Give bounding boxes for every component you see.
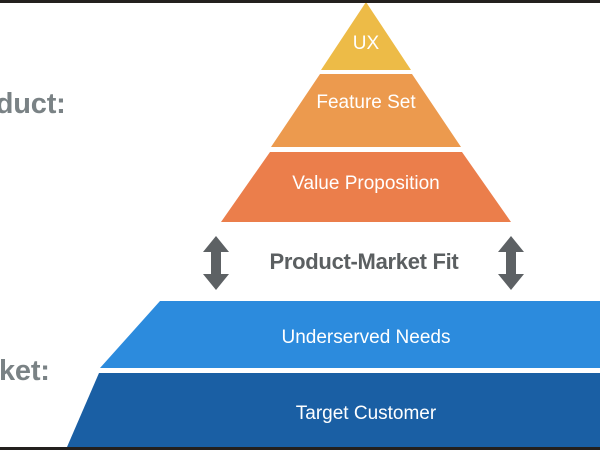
pyramid-graphic xyxy=(0,0,600,450)
pyramid-layer-ux[interactable] xyxy=(321,2,411,70)
pyramid-layer-target-customer[interactable] xyxy=(67,373,600,447)
pyramid-layer-value-proposition[interactable] xyxy=(221,152,511,222)
pyramid-layer-feature-set[interactable] xyxy=(271,74,461,147)
group-label-product: Product: xyxy=(0,88,66,121)
product-market-fit-label: Product-Market Fit xyxy=(236,249,492,275)
right-double-arrow-icon xyxy=(498,236,524,290)
diagram-canvas: Product: Market: UX Feature Set Value Pr… xyxy=(0,0,600,450)
group-label-market: Market: xyxy=(0,355,50,388)
pyramid-layer-underserved-needs[interactable] xyxy=(100,301,600,368)
left-double-arrow-icon xyxy=(203,236,229,290)
frame-edge-top xyxy=(0,0,600,3)
